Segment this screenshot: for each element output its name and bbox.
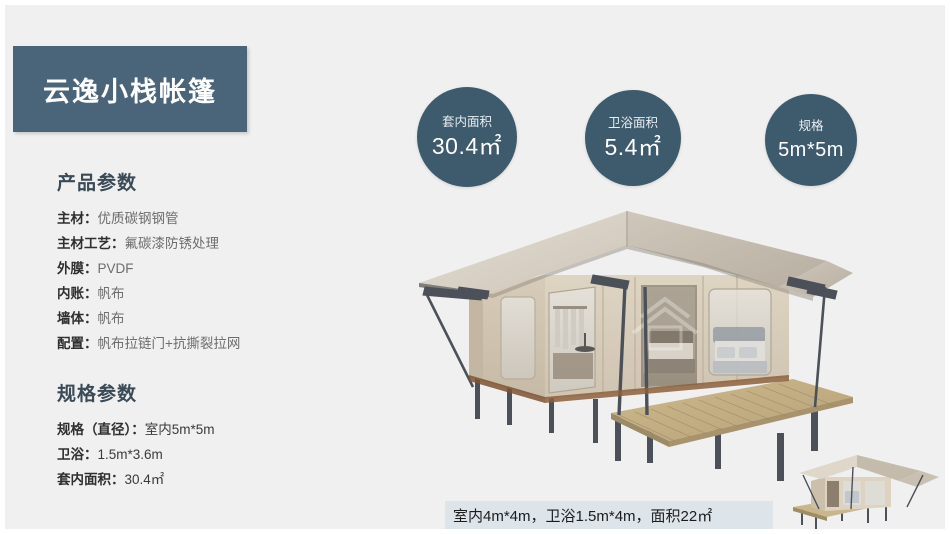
stat-badge-label: 套内面积 [442,116,492,129]
tent-thumbnail-svg [781,451,949,533]
spec-panel: 产品参数 主材：优质碳钢钢管 主材工艺：氟碳漆防锈处理 外膜：PVDF 内账：帆… [57,168,357,492]
spec-key: 主材： [57,211,98,226]
spec-value: 帆布 [98,286,125,301]
spec-value: 30.4㎡ [125,472,165,487]
spec-key: 墙体： [57,311,98,326]
spec-value: 1.5m*3.6m [98,447,163,462]
spec-row: 配置：帆布拉链门+抗撕裂拉网 [57,331,357,356]
spec-section-product: 产品参数 主材：优质碳钢钢管 主材工艺：氟碳漆防锈处理 外膜：PVDF 内账：帆… [57,168,357,356]
spec-key: 外膜： [57,261,98,276]
section-heading-specification: 规格参数 [57,379,357,406]
spec-value: 氟碳漆防锈处理 [125,236,220,251]
title-banner: 云逸小栈帐篷 [13,46,247,132]
spec-row: 主材：优质碳钢钢管 [57,206,357,231]
spec-row: 主材工艺：氟碳漆防锈处理 [57,231,357,256]
section-heading-product: 产品参数 [57,168,357,195]
stat-badge-bathroom-area: 卫浴面积 5.4㎡ [585,90,681,186]
spec-section-specification: 规格参数 规格（直径）：室内5m*5m 卫浴：1.5m*3.6m 套内面积：30… [57,379,357,492]
spec-row: 规格（直径）：室内5m*5m [57,417,357,442]
spec-value: 优质碳钢钢管 [98,211,179,226]
stat-badge-label: 规格 [798,120,823,133]
spec-row: 套内面积：30.4㎡ [57,467,357,492]
spec-row: 内账：帆布 [57,281,357,306]
stat-badge-label: 卫浴面积 [608,117,658,130]
thumb-roof-left [799,455,857,479]
caption-text: 室内4m*4m，卫浴1.5m*4m，面积22㎡ [445,505,712,526]
caption-bar: 室内4m*4m，卫浴1.5m*4m，面积22㎡ [445,501,773,530]
stat-badge-value: 30.4㎡ [432,135,502,158]
spec-key: 主材工艺： [57,236,125,251]
stat-badge-dimensions: 规格 5m*5m [765,94,857,186]
spec-key: 内账： [57,286,98,301]
spec-row: 卫浴：1.5m*3.6m [57,442,357,467]
thumb-door [827,481,839,507]
tent-thumbnail[interactable] [781,451,949,533]
spec-key: 卫浴： [57,447,98,462]
spec-value: 室内5m*5m [145,422,215,437]
spec-list-specification: 规格（直径）：室内5m*5m 卫浴：1.5m*3.6m 套内面积：30.4㎡ [57,417,357,492]
spec-row: 外膜：PVDF [57,256,357,281]
stat-badge-value: 5m*5m [778,140,844,160]
stat-badge-value: 5.4㎡ [605,136,662,159]
spec-key: 配置： [57,336,98,351]
thumb-window [865,481,885,505]
spec-value: 帆布拉链门+抗撕裂拉网 [98,336,241,351]
spec-value: PVDF [98,261,134,276]
poster-canvas: 云逸小栈帐篷 产品参数 主材：优质碳钢钢管 主材工艺：氟碳漆防锈处理 外膜：PV… [0,0,950,534]
spec-row: 墙体：帆布 [57,306,357,331]
page-title: 云逸小栈帐篷 [43,70,217,109]
spec-key: 规格（直径）： [57,422,145,437]
spec-list-product: 主材：优质碳钢钢管 主材工艺：氟碳漆防锈处理 外膜：PVDF 内账：帆布 墙体：… [57,206,357,356]
spec-value: 帆布 [98,311,125,326]
stat-badge-interior-area: 套内面积 30.4㎡ [417,87,517,187]
spec-key: 套内面积： [57,472,125,487]
